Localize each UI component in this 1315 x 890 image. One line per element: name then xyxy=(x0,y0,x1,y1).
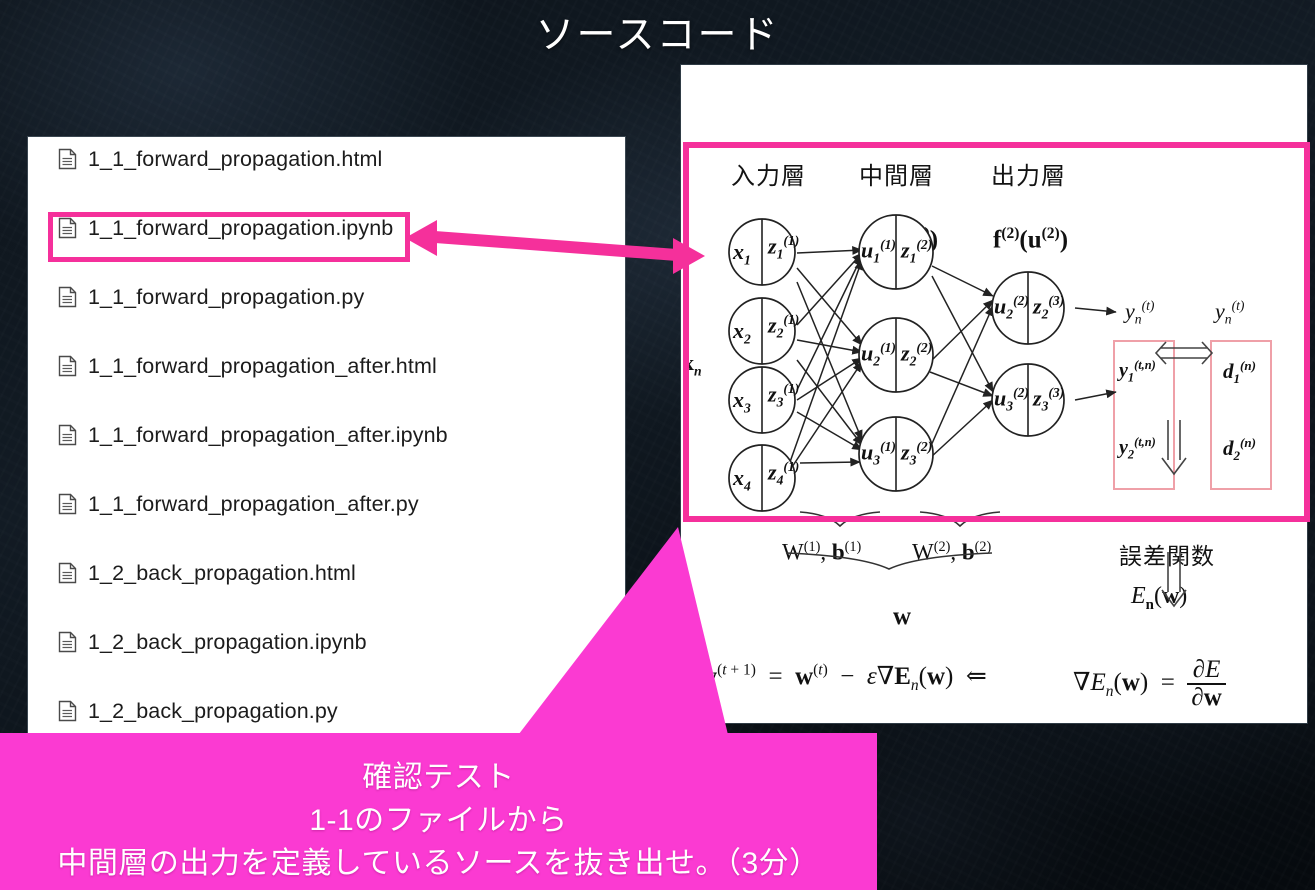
input-vector-label: xn xyxy=(683,350,702,379)
list-item[interactable]: 1_1_forward_propagation_after.html xyxy=(58,344,437,388)
list-item[interactable]: 1_1_forward_propagation.html xyxy=(58,137,382,181)
document-icon xyxy=(58,424,77,446)
page-title: ソースコード xyxy=(0,4,1315,60)
error-symbol: En(w) xyxy=(1131,583,1187,614)
node-label-u3-1: u3(1) xyxy=(861,439,896,469)
node-label-u1-1: u1(1) xyxy=(861,237,896,267)
prediction-value-2: y2(t,n) xyxy=(1119,435,1156,463)
node-label-z4-1: z4(1) xyxy=(768,459,799,489)
layer-label-output: 出力層 xyxy=(991,156,1066,191)
node-label-u2-2: u2(2) xyxy=(994,293,1029,323)
file-name: 1_2_back_propagation.html xyxy=(88,561,356,586)
prediction-header: yn(t) xyxy=(1125,298,1154,328)
error-function-label: 誤差関数 xyxy=(1119,537,1215,571)
banner-line-2: 1-1のファイルから xyxy=(0,795,877,839)
selected-file-highlight xyxy=(48,212,410,262)
node-label-z2-2: z2(2) xyxy=(901,340,932,370)
file-name: 1_1_forward_propagation_after.py xyxy=(88,492,419,517)
banner-line-3: 中間層の出力を定義しているソースを抜き出せ。（3分） xyxy=(0,838,877,882)
list-item[interactable]: 1_2_back_propagation.ipynb xyxy=(58,620,367,664)
activation-label-output: f(2)(u(2)) xyxy=(993,225,1068,254)
node-label-z2-1: z2(1) xyxy=(768,312,799,342)
node-label-z1-2: z1(2) xyxy=(901,237,932,267)
node-label-u3-2: u3(2) xyxy=(994,385,1029,415)
node-label-z3-1: z3(1) xyxy=(768,381,799,411)
list-item[interactable]: 1_1_forward_propagation_after.ipynb xyxy=(58,413,448,457)
node-label-z2-3: z2(3) xyxy=(1033,293,1064,323)
document-icon xyxy=(58,631,77,653)
target-header: yn(t) xyxy=(1215,298,1244,328)
formula-gradient: ∇En(w) = ∂E ∂w xyxy=(1073,657,1226,712)
target-value-2: d2(n) xyxy=(1223,435,1256,464)
node-label-z3-3: z3(3) xyxy=(1033,385,1064,415)
file-name: 1_1_forward_propagation_after.html xyxy=(88,354,437,379)
node-label-x4: x4 xyxy=(733,465,751,494)
brace-label-right: W(2), b(2) xyxy=(912,539,991,566)
list-item[interactable]: 1_1_forward_propagation.py xyxy=(58,275,364,319)
node-label-x3: x3 xyxy=(733,387,751,416)
file-name: 1_1_forward_propagation.html xyxy=(88,147,382,172)
node-label-x2: x2 xyxy=(733,318,751,347)
document-icon xyxy=(58,493,77,515)
document-icon xyxy=(58,286,77,308)
node-label-z1-1: z1(1) xyxy=(768,233,799,263)
list-item[interactable]: 1_2_back_propagation.html xyxy=(58,551,356,595)
layer-label-input: 入力層 xyxy=(731,156,806,191)
file-name: 1_2_back_propagation.py xyxy=(88,699,338,724)
target-value-1: d1(n) xyxy=(1223,358,1256,387)
layer-label-hidden: 中間層 xyxy=(859,156,934,191)
file-name: 1_1_forward_propagation.py xyxy=(88,285,364,310)
prediction-value-1: y1(t,n) xyxy=(1119,358,1156,386)
document-icon xyxy=(58,355,77,377)
document-icon xyxy=(58,562,77,584)
document-icon xyxy=(58,700,77,722)
connector-arrow xyxy=(405,212,705,282)
banner-line-1: 確認テスト xyxy=(0,752,877,796)
list-item[interactable]: 1_1_forward_propagation_after.py xyxy=(58,482,419,526)
file-name: 1_2_back_propagation.ipynb xyxy=(88,630,367,655)
file-name: 1_1_forward_propagation_after.ipynb xyxy=(88,423,448,448)
list-item[interactable]: 1_2_back_propagation.py xyxy=(58,689,338,733)
callout-tail xyxy=(440,500,900,750)
document-icon xyxy=(58,148,77,170)
node-label-z3-2: z3(2) xyxy=(901,439,932,469)
node-label-x1: x1 xyxy=(733,239,751,268)
node-label-u2-1: u2(1) xyxy=(861,340,896,370)
